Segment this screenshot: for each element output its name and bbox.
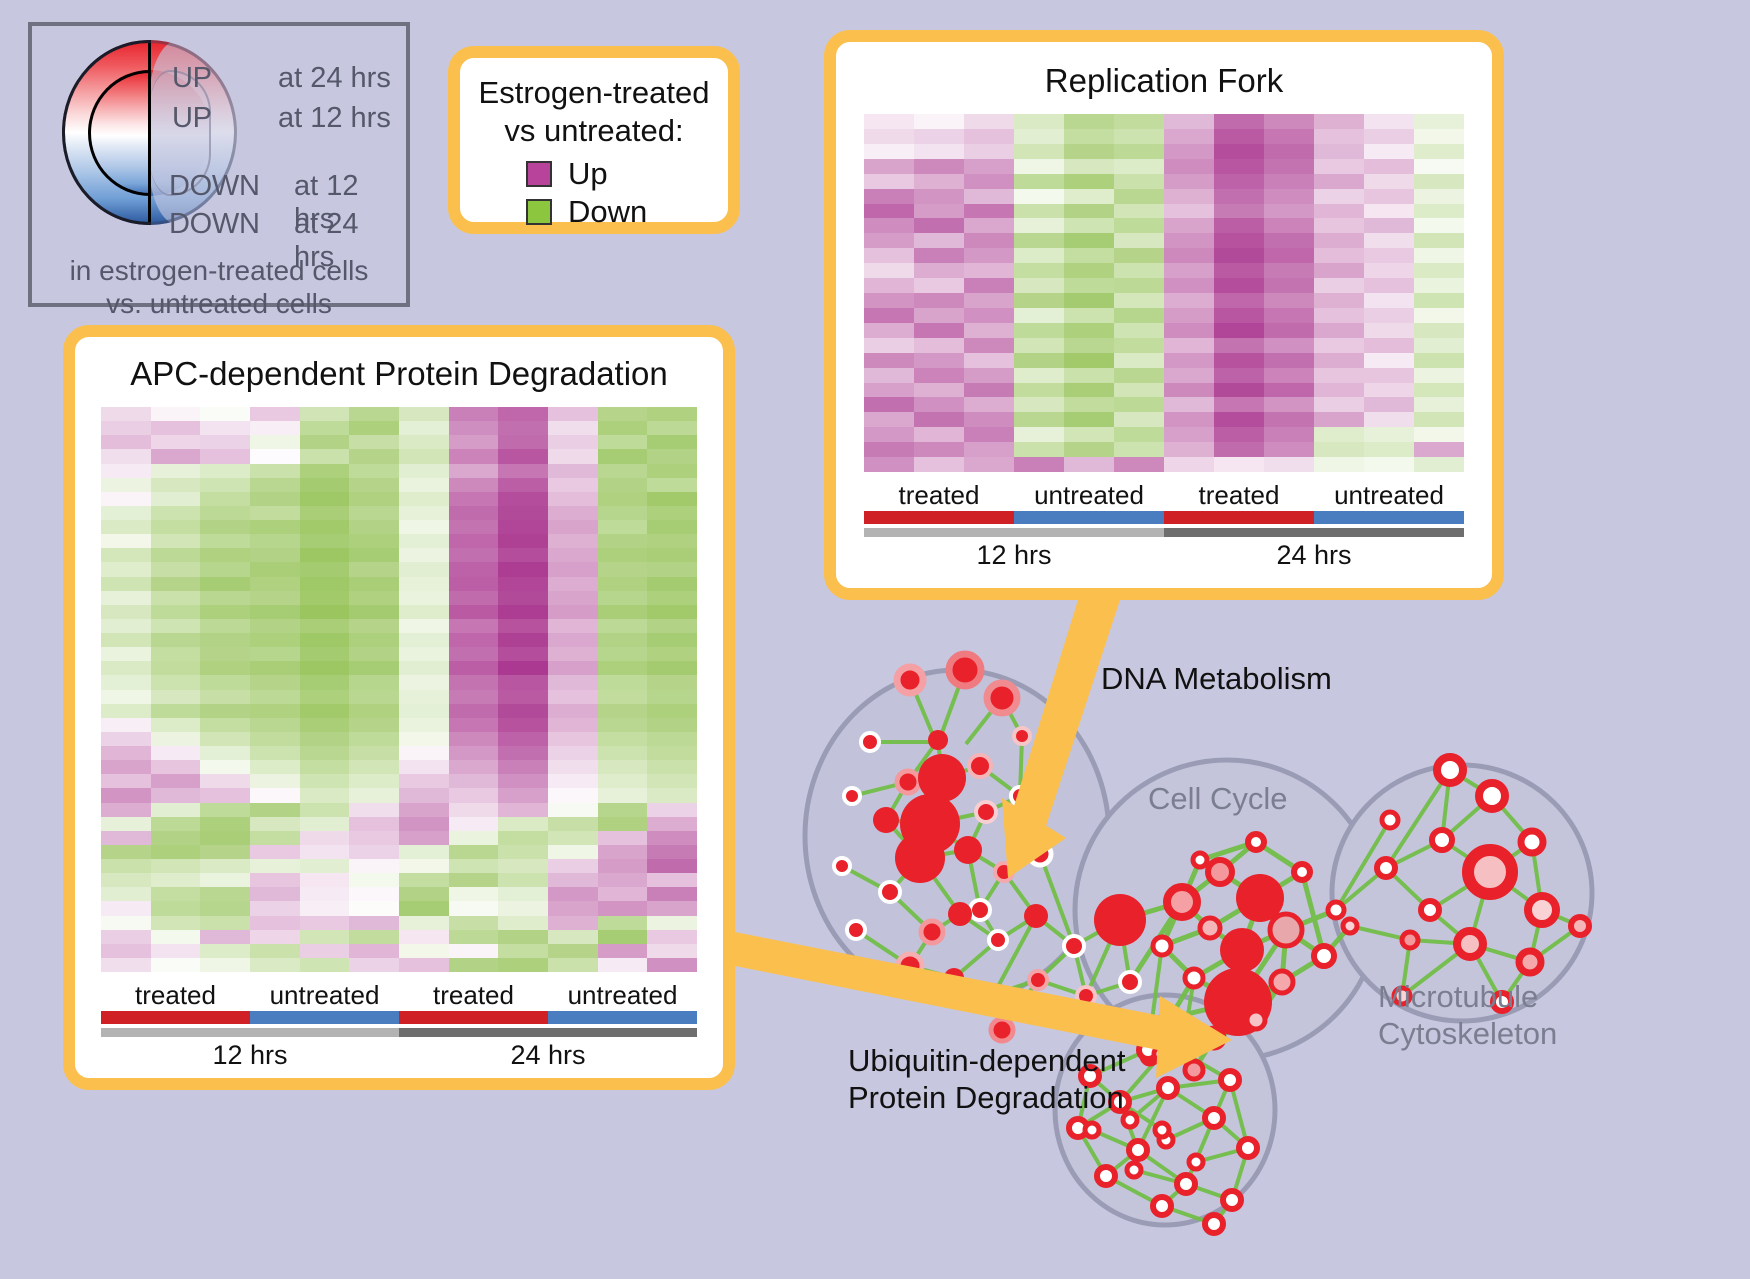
heatmap-cell [449,421,499,435]
heatmap-cell [1264,204,1314,219]
heatmap-cell [1014,353,1064,368]
cluster-label-ubiquitin-line2: Protein Degradation [848,1079,1126,1116]
heatmap-cell [647,478,697,492]
heatmap-cell [1114,457,1164,472]
heatmap-cell [1314,412,1364,427]
network-node [1193,853,1207,867]
heatmap-cell [200,690,250,704]
heatmap-cell [498,859,548,873]
heatmap-cell [349,605,399,619]
heatmap-cell [914,218,964,233]
heatmap-cell [399,887,449,901]
heatmap-cell [548,958,598,972]
heatmap-cell [1064,308,1114,323]
heatmap-cell [1364,412,1414,427]
heatmap-cell [647,548,697,562]
heatmap-cell [598,873,648,887]
heatmap-cell [250,647,300,661]
heatmap-cell [864,397,914,412]
network-node [1208,860,1232,884]
heatmap-cell [647,577,697,591]
heatmap-cell [101,859,151,873]
heatmap-cell [300,619,350,633]
heatmap-cell [964,383,1014,398]
heatmap-cell [250,407,300,421]
heatmap-cell [250,435,300,449]
heatmap-cell [914,427,964,442]
network-node [873,807,899,833]
heatmap-cell [449,675,499,689]
network-node [1437,757,1463,783]
heatmap-cell [1214,383,1264,398]
heatmap-cell [1414,189,1464,204]
heatmap-cell [449,774,499,788]
replication-fork-panel: Replication Fork treateduntreatedtreated… [824,30,1504,600]
heatmap-cell [200,845,250,859]
heatmap-cell [151,647,201,661]
heatmap-cell [548,859,598,873]
heatmap-cell [349,704,399,718]
heatmap-cell [1364,218,1414,233]
heatmap-cell [1164,159,1214,174]
heatmap-cell [1014,427,1064,442]
legend-item-down: Down [526,194,728,230]
heatmap-cell [449,520,499,534]
heatmap-cell [1414,293,1464,308]
heatmap-cell [598,944,648,958]
heatmap-cell [548,803,598,817]
heatmap-cell [101,534,151,548]
heatmap-cell [964,189,1014,204]
heatmap-cell [1114,353,1164,368]
network-node [995,863,1013,881]
heatmap-cell [598,591,648,605]
axis-group-label: treated [864,480,1014,511]
heatmap-cell [101,873,151,887]
heatmap-cell [598,605,648,619]
legend-title-line2: vs untreated: [460,112,728,150]
heatmap-cell [548,492,598,506]
heatmap-cell [498,887,548,901]
heatmap-cell [1164,397,1214,412]
network-node [898,954,922,978]
network-node [1248,834,1264,850]
network-node [1011,787,1029,805]
heatmap-cell [498,478,548,492]
heatmap-cell [399,591,449,605]
heatmap-cell [1114,308,1164,323]
heatmap-cell [1314,427,1364,442]
heatmap-cell [914,308,964,323]
heatmap-cell [300,873,350,887]
heatmap-cell [1214,293,1264,308]
heatmap-cell [1114,278,1164,293]
heatmap-cell [1064,397,1114,412]
heatmap-cell [1364,189,1414,204]
axis-group-label: untreated [250,980,399,1011]
heatmap-cell [151,478,201,492]
heatmap-cell [250,803,300,817]
heatmap-cell [349,562,399,576]
heatmap-cell [1014,278,1064,293]
heatmap-cell [548,732,598,746]
heatmap-cell [498,492,548,506]
updown-legend-panel: Estrogen-treated vs untreated: Up Down [448,46,740,234]
heatmap-cell [349,534,399,548]
heatmap-cell [914,397,964,412]
heatmap-cell [151,788,201,802]
axis-time-label: 24 hrs [399,1037,697,1071]
network-node [948,902,972,926]
heatmap-cell [964,412,1014,427]
heatmap-cell [1164,204,1214,219]
heatmap-cell [1364,263,1414,278]
replication-fork-time-bars [864,528,1464,537]
heatmap-cell [101,605,151,619]
heatmap-cell [1114,189,1164,204]
network-node [970,900,990,920]
heatmap-cell [498,577,548,591]
heatmap-cell [349,859,399,873]
heatmap-cell [1014,233,1064,248]
heatmap-cell [914,383,964,398]
apc-group-labels: treateduntreatedtreateduntreated [101,980,697,1011]
heatmap-cell [449,704,499,718]
heatmap-cell [498,661,548,675]
heatmap-cell [200,774,250,788]
heatmap-cell [151,944,201,958]
network-node [1571,917,1589,935]
heatmap-cell [449,887,499,901]
heatmap-cell [548,506,598,520]
heatmap-cell [964,129,1014,144]
heatmap-cell [1214,263,1264,278]
heatmap-cell [1264,218,1314,233]
heatmap-cell [101,845,151,859]
heatmap-cell [1364,144,1414,159]
heatmap-cell [964,308,1014,323]
heatmap-cell [864,457,914,472]
heatmap-cell [1014,412,1064,427]
heatmap-cell [349,464,399,478]
network-node [1167,887,1197,917]
heatmap-cell [598,916,648,930]
heatmap-cell [864,442,914,457]
heatmap-cell [1214,218,1264,233]
axis-group-label: treated [399,980,548,1011]
heatmap-cell [349,817,399,831]
heatmap-cell [250,534,300,548]
heatmap-cell [200,831,250,845]
heatmap-cell [349,901,399,915]
heatmap-cell [1414,144,1464,159]
network-node [1159,1079,1177,1097]
heatmap-cell [349,690,399,704]
axis-group-bar [864,511,1014,524]
heatmap-cell [498,619,548,633]
heatmap-cell [101,887,151,901]
heatmap-cell [914,353,964,368]
heatmap-cell [498,421,548,435]
cluster-label-microtubule-line2: Cytoskeleton [1378,1015,1557,1052]
heatmap-cell [548,930,598,944]
heatmap-cell [1214,248,1264,263]
heatmap-cell [1314,397,1364,412]
heatmap-cell [200,633,250,647]
heatmap-cell [399,817,449,831]
heatmap-cell [449,562,499,576]
heatmap-cell [1214,204,1264,219]
heatmap-cell [250,887,300,901]
heatmap-cell [914,442,964,457]
network-node [1382,812,1398,828]
heatmap-cell [647,449,697,463]
heatmap-cell [399,619,449,633]
colorwheel-caption: in estrogen-treated cells vs. untreated … [32,254,406,320]
heatmap-cell [449,873,499,887]
apc-degradation-heatmap [101,407,697,972]
heatmap-cell [914,263,964,278]
heatmap-cell [498,675,548,689]
heatmap-cell [449,464,499,478]
heatmap-cell [449,803,499,817]
axis-group-bar [250,1011,399,1024]
network-node [1270,914,1302,946]
heatmap-cell [1214,442,1264,457]
heatmap-cell [449,435,499,449]
heatmap-cell [498,774,548,788]
axis-group-label: untreated [1314,480,1464,511]
heatmap-cell [101,562,151,576]
heatmap-cell [200,746,250,760]
heatmap-cell [449,760,499,774]
heatmap-cell [1314,189,1364,204]
heatmap-cell [449,746,499,760]
apc-time-labels: 12 hrs24 hrs [101,1037,697,1071]
heatmap-cell [349,845,399,859]
heatmap-cell [101,661,151,675]
heatmap-cell [1014,383,1064,398]
heatmap-cell [498,845,548,859]
heatmap-cell [647,887,697,901]
heatmap-cell [1214,353,1264,368]
network-node [1205,1215,1223,1233]
heatmap-cell [449,901,499,915]
heatmap-cell [598,464,648,478]
heatmap-cell [300,760,350,774]
heatmap-cell [1214,412,1264,427]
cluster-label-microtubule-cytoskeleton: Microtubule Cytoskeleton [1378,978,1557,1052]
axis-time-label: 12 hrs [101,1037,399,1071]
heatmap-cell [399,718,449,732]
heatmap-cell [498,520,548,534]
heatmap-cell [864,368,914,383]
colorwheel-caption-line2: vs. untreated cells [32,287,406,320]
heatmap-cell [101,577,151,591]
heatmap-cell [1114,159,1164,174]
network-node [1205,1109,1223,1127]
heatmap-cell [647,633,697,647]
cluster-label-ubiquitin-degradation: Ubiquitin-dependent Protein Degradation [848,1042,1126,1116]
heatmap-cell [498,562,548,576]
heatmap-cell [200,944,250,958]
heatmap-cell [1114,368,1164,383]
heatmap-cell [1014,189,1064,204]
heatmap-cell [1114,427,1164,442]
heatmap-cell [1364,174,1414,189]
heatmap-cell [1164,308,1214,323]
heatmap-cell [598,690,648,704]
heatmap-cell [964,159,1014,174]
heatmap-cell [1014,457,1064,472]
heatmap-cell [548,760,598,774]
heatmap-cell [1214,427,1264,442]
heatmap-cell [864,412,914,427]
heatmap-cell [250,817,300,831]
heatmap-cell [964,397,1014,412]
heatmap-cell [1264,144,1314,159]
heatmap-cell [1014,248,1064,263]
heatmap-cell [598,633,648,647]
heatmap-cell [598,746,648,760]
heatmap-cell [349,661,399,675]
heatmap-cell [1164,412,1214,427]
heatmap-cell [399,690,449,704]
network-node [991,1019,1013,1041]
heatmap-cell [1414,397,1464,412]
heatmap-cell [449,690,499,704]
heatmap-cell [300,704,350,718]
axis-group-bar [399,1011,548,1024]
heatmap-cell [1064,174,1114,189]
heatmap-cell [349,548,399,562]
heatmap-cell [1364,353,1414,368]
heatmap-cell [349,577,399,591]
heatmap-cell [864,189,914,204]
colorwheel-direction-down-24: DOWN [169,208,260,241]
heatmap-cell [101,548,151,562]
network-node [1029,843,1051,865]
heatmap-cell [151,492,201,506]
heatmap-cell [1364,248,1414,263]
heatmap-cell [399,407,449,421]
heatmap-cell [1264,129,1314,144]
heatmap-cell [1164,278,1214,293]
heatmap-cell [200,859,250,873]
heatmap-cell [914,204,964,219]
legend-item-down-label: Down [568,194,647,230]
heatmap-cell [349,492,399,506]
heatmap-cell [151,520,201,534]
heatmap-cell [548,944,598,958]
heatmap-cell [1264,383,1314,398]
heatmap-cell [151,548,201,562]
apc-group-bars [101,1011,697,1024]
heatmap-cell [300,562,350,576]
heatmap-cell [1014,338,1064,353]
heatmap-cell [1314,338,1364,353]
heatmap-cell [200,464,250,478]
heatmap-cell [300,944,350,958]
network-node [1154,1046,1170,1062]
network-node [1185,1061,1203,1079]
heatmap-cell [250,605,300,619]
heatmap-cell [548,464,598,478]
heatmap-cell [200,534,250,548]
heatmap-cell [1364,129,1414,144]
network-node [847,921,865,939]
heatmap-cell [349,435,399,449]
apc-degradation-title: APC-dependent Protein Degradation [75,355,723,393]
heatmap-cell [964,442,1014,457]
heatmap-cell [914,278,964,293]
network-node [1155,1123,1169,1137]
heatmap-cell [101,803,151,817]
heatmap-cell [498,591,548,605]
heatmap-cell [399,464,449,478]
heatmap-cell [1164,218,1214,233]
heatmap-cell [300,435,350,449]
heatmap-cell [101,435,151,449]
heatmap-cell [548,916,598,930]
network-node [949,654,981,686]
heatmap-cell [598,887,648,901]
heatmap-cell [349,887,399,901]
heatmap-cell [498,788,548,802]
heatmap-cell [1064,323,1114,338]
heatmap-cell [498,690,548,704]
heatmap-cell [1114,248,1164,263]
heatmap-cell [101,520,151,534]
heatmap-cell [914,144,964,159]
heatmap-cell [914,174,964,189]
axis-group-bar [1164,511,1314,524]
heatmap-cell [598,548,648,562]
heatmap-cell [1014,159,1064,174]
axis-group-label: untreated [1014,480,1164,511]
heatmap-cell [1164,353,1214,368]
heatmap-cell [598,675,648,689]
colorwheel-time-up-24: at 24 hrs [278,62,391,95]
heatmap-cell [498,449,548,463]
colorwheel-time-up-12: at 12 hrs [278,102,391,135]
heatmap-cell [300,901,350,915]
heatmap-cell [498,930,548,944]
heatmap-cell [151,619,201,633]
replication-fork-group-bars [864,511,1464,524]
heatmap-cell [250,916,300,930]
heatmap-cell [449,647,499,661]
heatmap-cell [200,421,250,435]
heatmap-cell [1364,427,1414,442]
network-node [921,921,943,943]
heatmap-cell [1414,323,1464,338]
axis-group-label: untreated [548,980,697,1011]
heatmap-cell [964,174,1014,189]
heatmap-cell [1414,442,1464,457]
heatmap-cell [1014,308,1064,323]
heatmap-cell [1114,129,1164,144]
heatmap-cell [300,746,350,760]
heatmap-cell [200,916,250,930]
heatmap-cell [1414,218,1464,233]
heatmap-cell [1164,189,1214,204]
heatmap-cell [101,901,151,915]
heatmap-cell [151,407,201,421]
heatmap-cell [647,464,697,478]
square-swatch-up-icon [526,161,552,187]
network-node [897,771,919,793]
